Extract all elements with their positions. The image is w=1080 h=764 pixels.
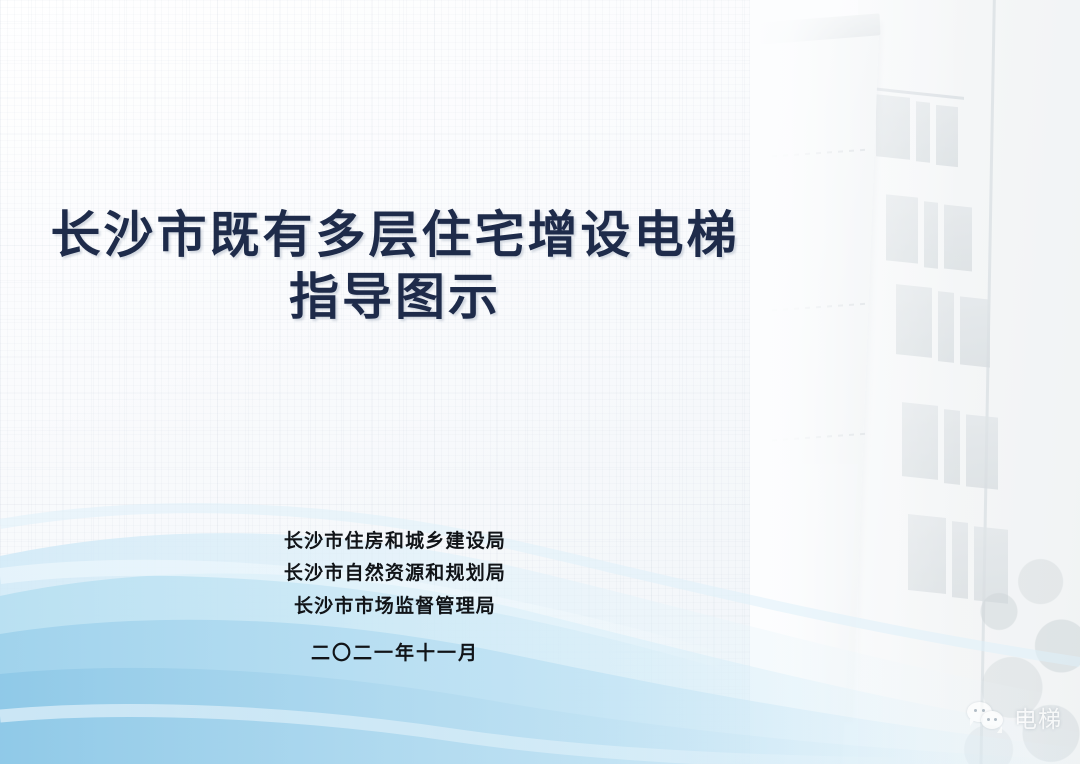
agency-line-3: 长沙市市场监督管理局 bbox=[0, 591, 790, 623]
wechat-bubble-large-dot bbox=[974, 709, 977, 712]
wechat-logo-icon bbox=[967, 702, 1007, 732]
title-line-1: 长沙市既有多层住宅增设电梯 bbox=[0, 204, 790, 266]
wechat-bubble-small-dot bbox=[987, 718, 990, 721]
wechat-bubble-large-tail bbox=[970, 719, 975, 726]
agency-line-1: 长沙市住房和城乡建设局 bbox=[0, 526, 790, 558]
presentation-title-slide: 长沙市既有多层住宅增设电梯 指导图示 长沙市住房和城乡建设局 长沙市自然资源和规… bbox=[0, 0, 1080, 764]
wechat-bubble-large-dot bbox=[982, 709, 985, 712]
slide-title: 长沙市既有多层住宅增设电梯 指导图示 bbox=[0, 204, 790, 328]
wechat-watermark: 电梯 bbox=[967, 700, 1062, 734]
publication-date: 二〇二一年十一月 bbox=[0, 638, 790, 665]
wechat-bubble-small-tail bbox=[997, 726, 1002, 733]
agency-line-2: 长沙市自然资源和规划局 bbox=[0, 558, 790, 590]
title-line-2: 指导图示 bbox=[0, 266, 790, 328]
wechat-bubble-small-dot bbox=[994, 718, 997, 721]
issuing-agencies: 长沙市住房和城乡建设局 长沙市自然资源和规划局 长沙市市场监督管理局 二〇二一年… bbox=[0, 526, 790, 665]
watermark-label: 电梯 bbox=[1014, 700, 1062, 734]
